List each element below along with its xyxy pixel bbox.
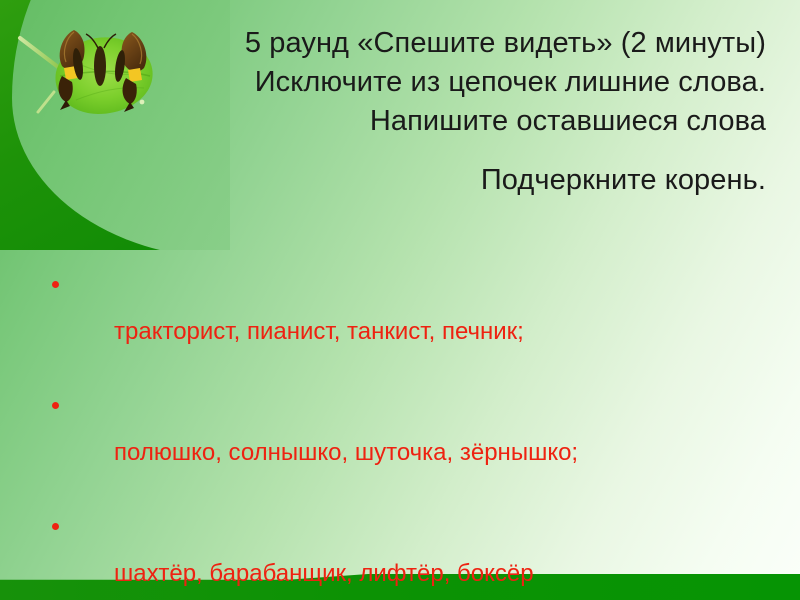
slide-title: 5 раунд «Спешите видеть» (2 минуты) Искл… xyxy=(60,24,766,200)
list-item-label: тракторист, пианист, танкист, печник; xyxy=(114,318,524,345)
bullet-dot-icon xyxy=(52,523,59,530)
list-item: шахтёр, барабанщик, лифтёр, боксёр xyxy=(48,514,768,600)
title-line-3: Напишите оставшиеся слова xyxy=(60,102,766,141)
bullet-dot-icon xyxy=(52,402,59,409)
list-item: полюшко, солнышко, шуточка, зёрнышко; xyxy=(48,393,768,489)
bullet-dot-icon xyxy=(52,281,59,288)
slide-canvas: 5 раунд «Спешите видеть» (2 минуты) Искл… xyxy=(0,0,800,600)
word-chain-list: тракторист, пианист, танкист, печник; по… xyxy=(48,272,768,600)
title-line-4: Подчеркните корень. xyxy=(60,161,766,200)
list-item-label: шахтёр, барабанщик, лифтёр, боксёр xyxy=(114,560,534,587)
list-item: тракторист, пианист, танкист, печник; xyxy=(48,272,768,368)
list-item-label: полюшко, солнышко, шуточка, зёрнышко; xyxy=(114,439,578,466)
title-line-2: Исключите из цепочек лишние слова. xyxy=(60,63,766,102)
title-line-1: 5 раунд «Спешите видеть» (2 минуты) xyxy=(60,24,766,63)
